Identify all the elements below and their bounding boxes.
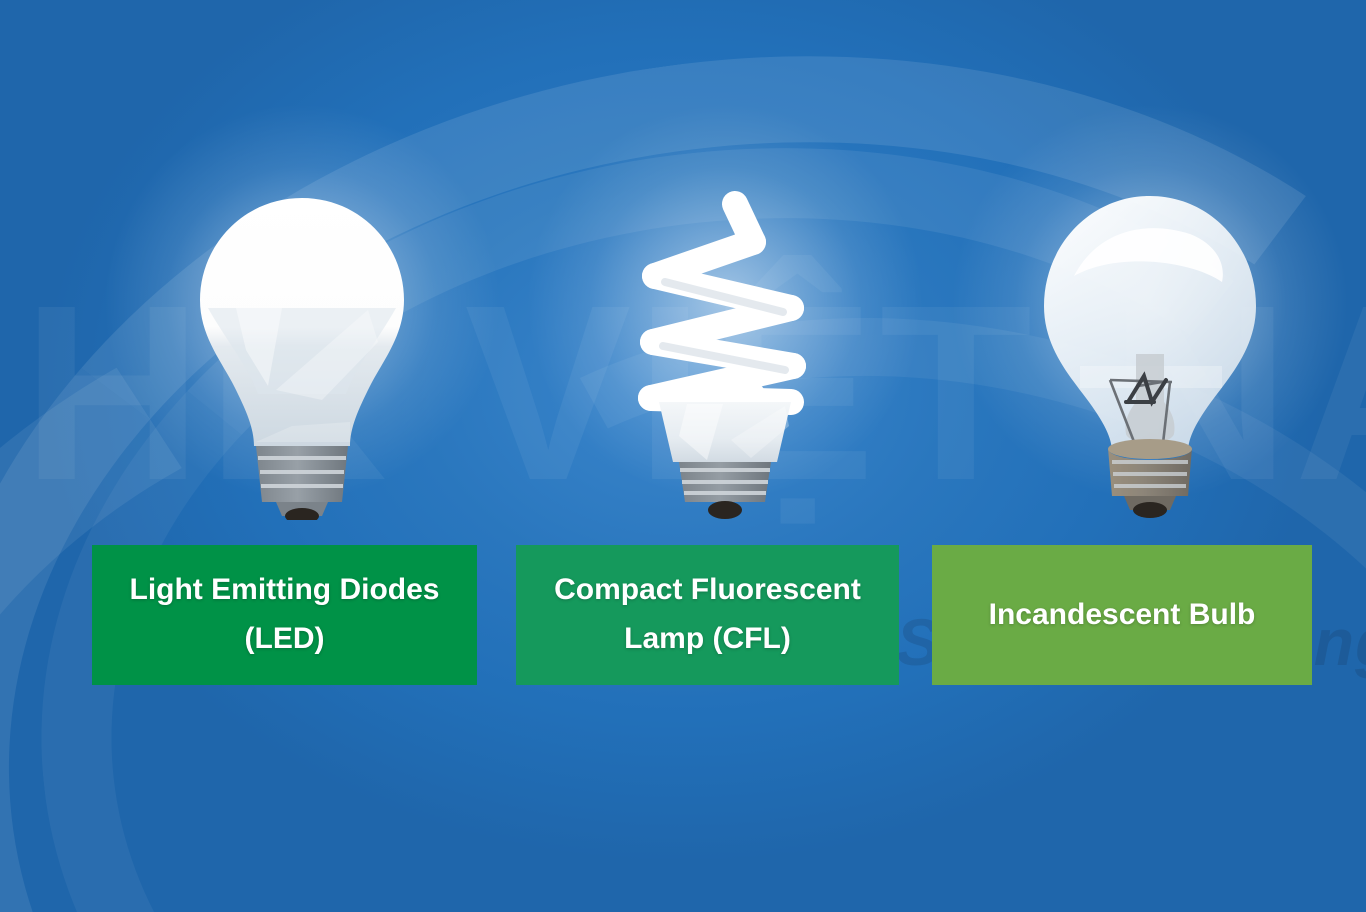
- incandescent-bulb-illustration: [1020, 190, 1280, 520]
- label-box-led[interactable]: Light Emitting Diodes (LED): [92, 545, 477, 685]
- led-bulb-illustration: [172, 190, 432, 520]
- label-text-led: Light Emitting Diodes (LED): [106, 566, 463, 663]
- label-text-incandescent: Incandescent Bulb: [989, 591, 1256, 640]
- cfl-spiral-bulb-icon: [595, 190, 855, 520]
- infographic-canvas: HK VIỆT NAM Vừa Sáng Vừa Sáng: [0, 0, 1366, 912]
- incandescent-bulb-icon: [1020, 190, 1280, 520]
- label-box-cfl[interactable]: Compact Fluorescent Lamp (CFL): [516, 545, 899, 685]
- led-bulb-icon: [172, 190, 432, 520]
- label-text-cfl: Compact Fluorescent Lamp (CFL): [530, 566, 885, 663]
- cfl-bulb-illustration: [595, 190, 855, 520]
- label-box-incandescent[interactable]: Incandescent Bulb: [932, 545, 1312, 685]
